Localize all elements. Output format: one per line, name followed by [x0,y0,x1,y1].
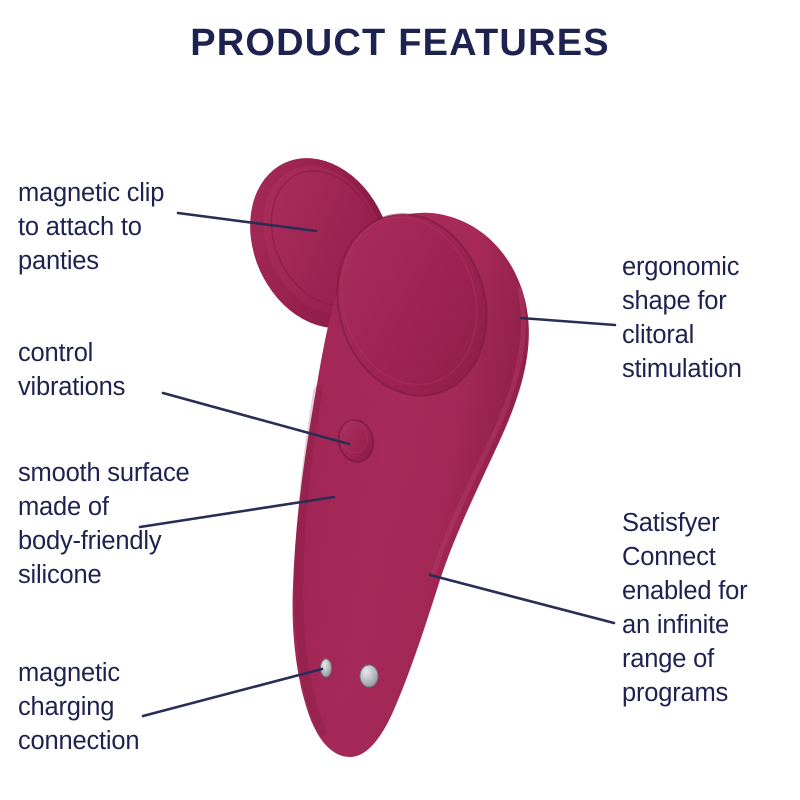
callout-control-vibrations: control vibrations [18,336,125,404]
callout-magnetic-clip: magnetic clip to attach to panties [18,176,164,278]
charging-contact-large [360,665,378,687]
callout-smooth-surface: smooth surface made of body-friendly sil… [18,456,190,592]
product-features-infographic: PRODUCT FEATURES [0,0,800,800]
callout-magnetic-charging: magnetic charging connection [18,656,139,758]
charging-contact-small [321,659,332,677]
callout-ergonomic-shape: ergonomic shape for clitoral stimulation [622,250,742,386]
callout-satisfyer-connect: Satisfyer Connect enabled for an infinit… [622,506,747,710]
